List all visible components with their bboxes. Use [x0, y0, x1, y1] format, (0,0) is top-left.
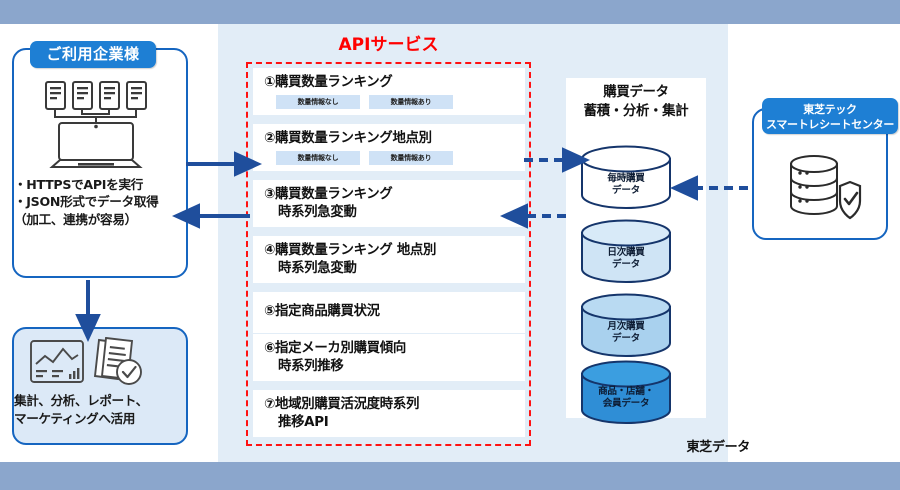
- api-item-number: ⑥: [264, 341, 275, 356]
- purchase-data-title: 購買データ蓄積・分析・集計: [556, 84, 716, 121]
- laptop-servers-icon: [30, 78, 170, 174]
- api-item-sub: 時系列急変動: [264, 204, 525, 222]
- api-item-number: ⑤: [264, 304, 275, 319]
- api-item-title: 購買数量ランキング: [275, 187, 392, 202]
- analytics-text: 集計、分析、レポート、マーケティングへ活用: [14, 392, 188, 427]
- api-tag: 数量情報なし: [276, 95, 360, 109]
- api-item: ①購買数量ランキング 数量情報なし 数量情報あり: [253, 68, 525, 115]
- api-item-sub: 推移API: [264, 414, 525, 432]
- api-service-title: APIサービス: [246, 30, 531, 55]
- api-item-sub: 時系列急変動: [264, 260, 525, 278]
- api-item-number: ①: [264, 75, 275, 90]
- api-item: ②購買数量ランキング地点別 数量情報なし 数量情報あり: [253, 124, 525, 171]
- bottom-band: [0, 462, 900, 490]
- api-item-title: 地域別購買活況度時系列: [275, 397, 419, 412]
- cylinder-hourly: 毎時購買データ: [580, 145, 672, 209]
- cylinder-master: 商品・店舗・会員データ: [580, 360, 672, 424]
- chart-report-check-icon: [28, 336, 164, 388]
- diagram-canvas: ご利用企業様: [0, 0, 900, 490]
- api-item-title: 指定メーカ別購買傾向: [275, 341, 406, 356]
- customer-bullets: ・HTTPSでAPIを実行・JSON形式でデータ取得（加工、連携が容易）: [14, 176, 190, 228]
- api-item-number: ③: [264, 187, 275, 202]
- toshiba-data-label: 東芝データ: [660, 436, 750, 455]
- cylinder-monthly: 月次購買データ: [580, 293, 672, 357]
- api-item: ④購買数量ランキング 地点別 時系列急変動: [253, 236, 525, 283]
- api-item: ⑤指定商品購買状況: [253, 292, 525, 333]
- api-item: ③購買数量ランキング 時系列急変動: [253, 180, 525, 227]
- api-item: ⑦地域別購買活況度時系列 推移API: [253, 390, 525, 437]
- api-tag: 数量情報あり: [369, 95, 453, 109]
- cylinder-label: 日次購買データ: [580, 247, 672, 272]
- api-tag: 数量情報あり: [369, 151, 453, 165]
- api-item-title: 購買数量ランキング: [275, 75, 392, 90]
- api-item-title: 購買数量ランキング地点別: [275, 131, 432, 146]
- api-item-number: ⑦: [264, 397, 275, 412]
- api-item-title: 指定商品購買状況: [275, 304, 380, 319]
- cylinder-label: 毎時購買データ: [580, 173, 672, 198]
- cylinder-label: 月次購買データ: [580, 321, 672, 346]
- smart-receipt-center-badge: 東芝テックスマートレシートセンター: [762, 98, 898, 134]
- cylinder-daily: 日次購買データ: [580, 219, 672, 283]
- database-shield-icon: [785, 152, 863, 224]
- api-item-sub: 時系列推移: [264, 358, 525, 376]
- customer-badge: ご利用企業様: [30, 41, 156, 68]
- api-item-number: ②: [264, 131, 275, 146]
- api-tag: 数量情報なし: [276, 151, 360, 165]
- cylinder-label: 商品・店舗・会員データ: [580, 386, 672, 411]
- api-item-number: ④: [264, 243, 275, 258]
- top-band: [0, 0, 900, 24]
- api-item: ⑥指定メーカ別購買傾向 時系列推移: [253, 334, 525, 381]
- api-item-title: 購買数量ランキング 地点別: [275, 243, 436, 258]
